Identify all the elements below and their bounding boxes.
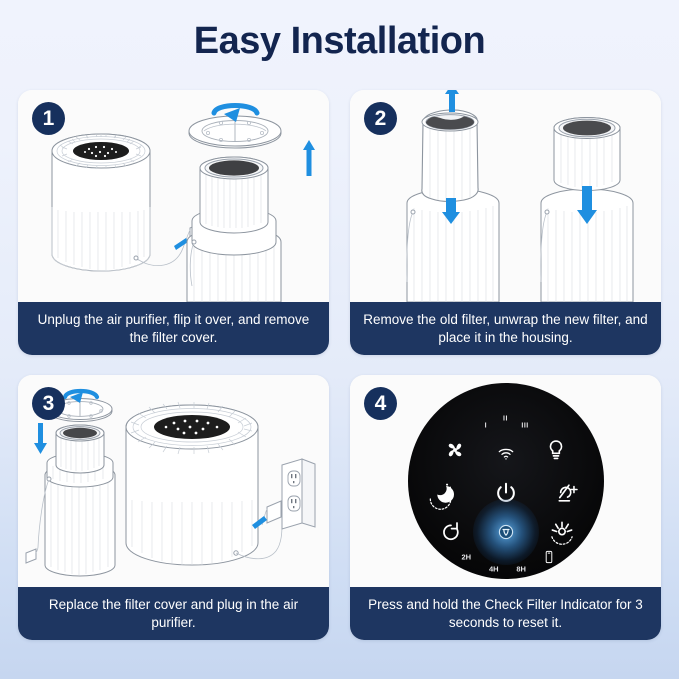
step-number-badge: 4 [364,387,397,420]
step-caption: Replace the filter cover and plug in the… [18,587,329,640]
step-card-2: 2 Remove the old filter, unwrap the new … [350,90,661,355]
infographic-page: Easy Installation [0,0,679,679]
control-panel-disc: I II III [408,383,604,579]
fan-speed-icon[interactable] [444,439,466,461]
step-number-badge: 3 [32,387,65,420]
step-card-1: 1 Unplug the air purifier, flip it over,… [18,90,329,355]
timer-label-8h: 8H [516,565,526,573]
page-title: Easy Installation [0,20,679,63]
speed-label-1: I [485,423,487,430]
step-number-badge: 2 [364,102,397,135]
timer-label-2h: 2H [462,554,472,562]
timer-label-4h: 4H [489,565,499,573]
child-lock-icon[interactable] [545,551,553,564]
check-filter-indicator-icon[interactable] [498,524,514,540]
speed-label-3: III [521,423,528,430]
step-caption: Press and hold the Check Filter Indicato… [350,587,661,640]
step-number-badge: 1 [32,102,65,135]
auto-mode-icon[interactable] [549,519,576,545]
sleep-mode-icon[interactable] [427,480,455,506]
steps-grid: 1 Unplug the air purifier, flip it over,… [18,90,661,655]
ionizer-icon[interactable] [556,482,580,504]
step-caption: Unplug the air purifier, flip it over, a… [18,302,329,355]
light-bulb-icon[interactable] [548,439,565,461]
step-card-3: 3 Replace the filter cover and plug in t… [18,375,329,640]
timer-icon[interactable] [441,521,461,542]
step-card-4: I II III [350,375,661,640]
step-caption: Remove the old filter, unwrap the new fi… [350,302,661,355]
speed-label-2: II [503,416,508,423]
wifi-icon[interactable] [498,447,514,460]
